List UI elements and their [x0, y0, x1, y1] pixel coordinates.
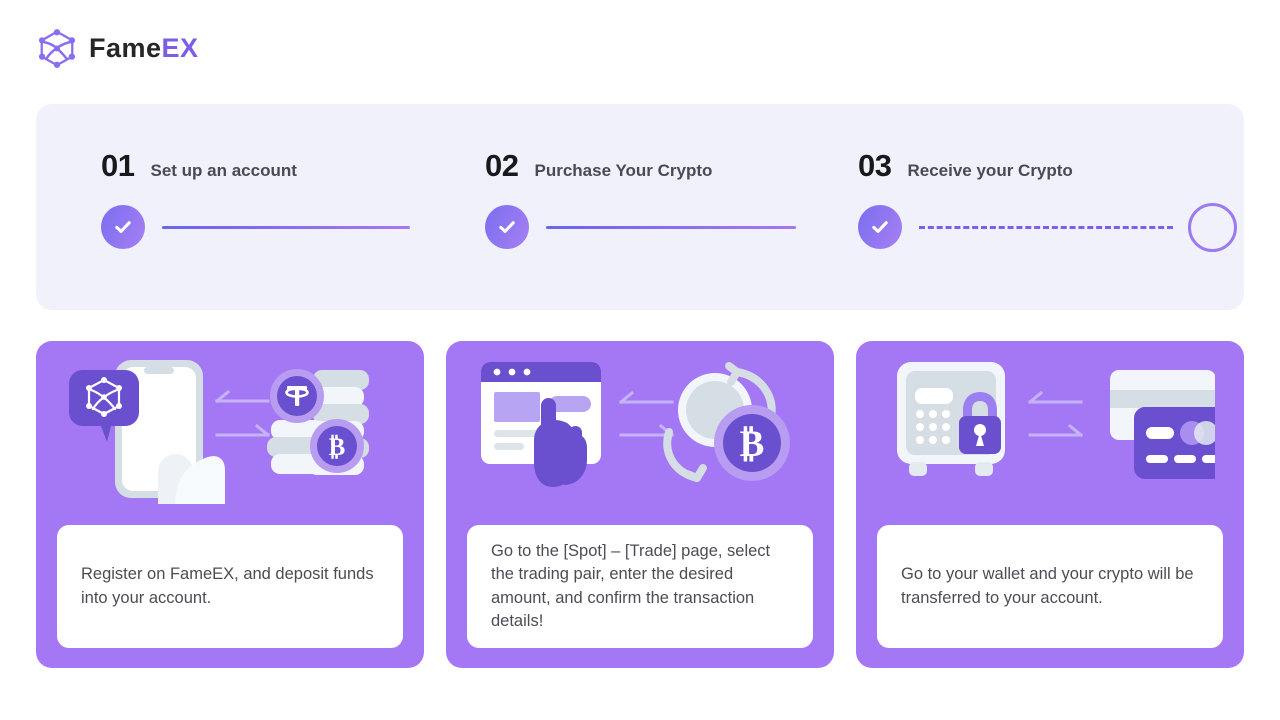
step-item-03: 03 Receive your Crypto — [858, 150, 1238, 249]
step-progress-track — [485, 205, 865, 249]
step-title: Set up an account — [150, 162, 296, 179]
fameex-network-logo-icon — [36, 27, 78, 69]
check-icon — [112, 216, 134, 238]
card-caption-text: Register on FameEX, and deposit funds in… — [81, 563, 379, 610]
bitcoin-coin-icon: ₿ — [310, 419, 364, 473]
brand-name-part1: Fame — [89, 33, 162, 63]
step-card-3: Go to your wallet and your crypto will b… — [856, 341, 1244, 668]
card-caption-text: Go to your wallet and your crypto will b… — [901, 563, 1199, 610]
steps-panel: 01 Set up an account 02 Purchase Your Cr… — [36, 104, 1244, 310]
step-connector-line — [546, 226, 796, 229]
svg-text:₿: ₿ — [329, 434, 346, 461]
card-caption: Go to your wallet and your crypto will b… — [877, 525, 1223, 648]
card-caption: Register on FameEX, and deposit funds in… — [57, 525, 403, 648]
step-header: 03 Receive your Crypto — [858, 150, 1238, 184]
step-title: Receive your Crypto — [907, 162, 1072, 179]
step-header: 02 Purchase Your Crypto — [485, 150, 865, 184]
browser-click-exchange-bitcoin-illustration: ₿ — [446, 341, 834, 516]
card-caption-text: Go to the [Spot] – [Trade] page, select … — [491, 540, 789, 634]
steps-cards-row: ₿ Register on FameEX, and deposit funds … — [36, 341, 1244, 668]
step-check-badge — [858, 205, 902, 249]
step-connector-line — [162, 226, 410, 229]
safe-lock-credit-cards-illustration — [856, 341, 1244, 516]
card-caption: Go to the [Spot] – [Trade] page, select … — [467, 525, 813, 648]
step-connector-dashed-line — [919, 226, 1173, 229]
step-check-badge — [101, 205, 145, 249]
step-item-02: 02 Purchase Your Crypto — [485, 150, 865, 249]
step-header: 01 Set up an account — [101, 150, 481, 184]
step-card-1: ₿ Register on FameEX, and deposit funds … — [36, 341, 424, 668]
brand-name: FameEX — [89, 35, 199, 62]
step-number: 01 — [101, 150, 134, 181]
step-check-badge — [485, 205, 529, 249]
brand-header: FameEX — [36, 26, 199, 70]
step-progress-track — [101, 205, 481, 249]
step-end-empty-circle — [1188, 203, 1237, 252]
step-title: Purchase Your Crypto — [534, 162, 712, 179]
usdt-coin-icon — [270, 369, 324, 423]
step-progress-track — [858, 205, 1238, 249]
svg-text:₿: ₿ — [740, 424, 765, 465]
check-icon — [869, 216, 891, 238]
step-number: 02 — [485, 150, 518, 181]
step-card-2: ₿ Go to the [Spot] – [Trade] page, selec… — [446, 341, 834, 668]
phone-hand-chat-coins-illustration: ₿ — [36, 341, 424, 516]
brand-name-part2: EX — [162, 33, 199, 63]
check-icon — [496, 216, 518, 238]
step-item-01: 01 Set up an account — [101, 150, 481, 249]
bitcoin-coin-icon: ₿ — [714, 405, 790, 481]
step-number: 03 — [858, 150, 891, 181]
